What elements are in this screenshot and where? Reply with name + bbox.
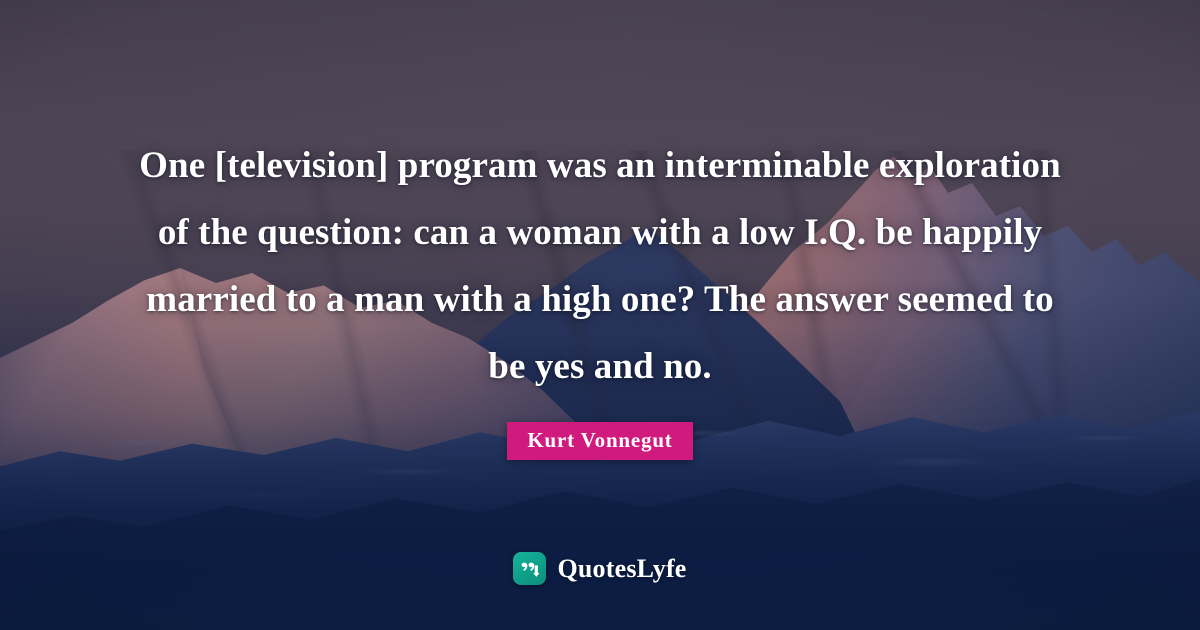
quote-card: One [television] program was an intermin…: [0, 0, 1200, 630]
card-content: One [television] program was an intermin…: [0, 0, 1200, 630]
quote-text: One [television] program was an intermin…: [130, 132, 1070, 400]
quote-mark-icon: [513, 552, 546, 585]
author-badge[interactable]: Kurt Vonnegut: [507, 422, 692, 460]
brand-name: QuotesLyfe: [557, 554, 686, 584]
brand-logo[interactable]: QuotesLyfe: [0, 552, 1200, 585]
